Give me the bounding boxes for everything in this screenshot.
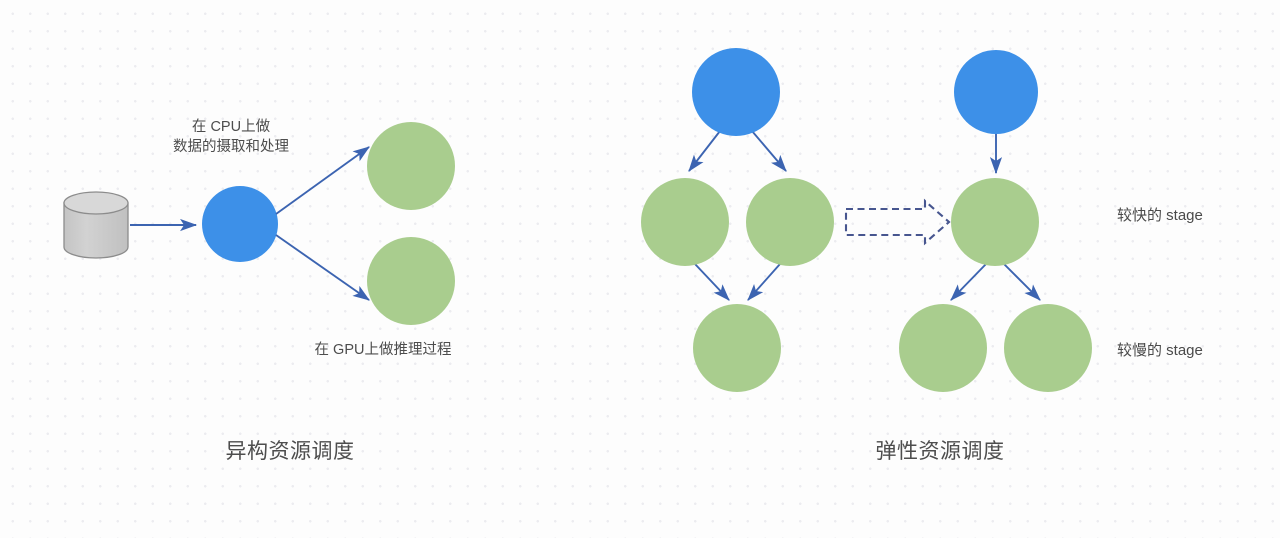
gpu-note: 在 GPU上做推理过程 — [288, 341, 478, 360]
edge-broot-to-bmidr — [752, 131, 786, 171]
edge-cpu-to-gpu-bottom — [276, 235, 369, 300]
cluster-before-mid-right-node[interactable] — [746, 178, 834, 266]
transform-dashed-arrow-icon — [846, 201, 949, 243]
edge-amid-to-aleafl — [951, 264, 986, 300]
right-diagram-caption: 弹性资源调度 — [800, 438, 1080, 466]
cluster-before-mid-left-node[interactable] — [641, 178, 729, 266]
right-diagram-cluster-before — [641, 48, 834, 392]
cluster-after-mid-node[interactable] — [951, 178, 1039, 266]
edge-bmidr-to-bleaf — [748, 264, 780, 300]
left-diagram-caption: 异构资源调度 — [150, 438, 430, 466]
cluster-after-leaf-right-node[interactable] — [1004, 304, 1092, 392]
slow-stage-label: 较慢的 stage — [1117, 341, 1203, 361]
cluster-before-root-node[interactable] — [692, 48, 780, 136]
dashed-arrow-outline — [846, 201, 949, 243]
cpu-node[interactable] — [202, 186, 278, 262]
edge-amid-to-aleafr — [1004, 264, 1040, 300]
cluster-after-leaf-left-node[interactable] — [899, 304, 987, 392]
edge-bmidl-to-bleaf — [695, 264, 729, 300]
cluster-before-leaf-node[interactable] — [693, 304, 781, 392]
cpu-note-line2: 数据的摄取和处理 — [146, 138, 316, 157]
right-diagram-cluster-after — [899, 50, 1092, 392]
cluster-after-root-node[interactable] — [954, 50, 1038, 134]
gpu-node-top[interactable] — [367, 122, 455, 210]
cpu-note-line1: 在 CPU上做 — [146, 118, 316, 137]
cylinder-top-ellipse — [64, 192, 128, 214]
datastore-cylinder-node[interactable] — [64, 192, 128, 258]
fast-stage-label: 较快的 stage — [1117, 206, 1203, 226]
edge-broot-to-bmidl — [689, 131, 720, 171]
gpu-node-bottom[interactable] — [367, 237, 455, 325]
diagram-canvas: 在 CPU上做 数据的摄取和处理 在 GPU上做推理过程 较快的 stage 较… — [0, 0, 1280, 538]
